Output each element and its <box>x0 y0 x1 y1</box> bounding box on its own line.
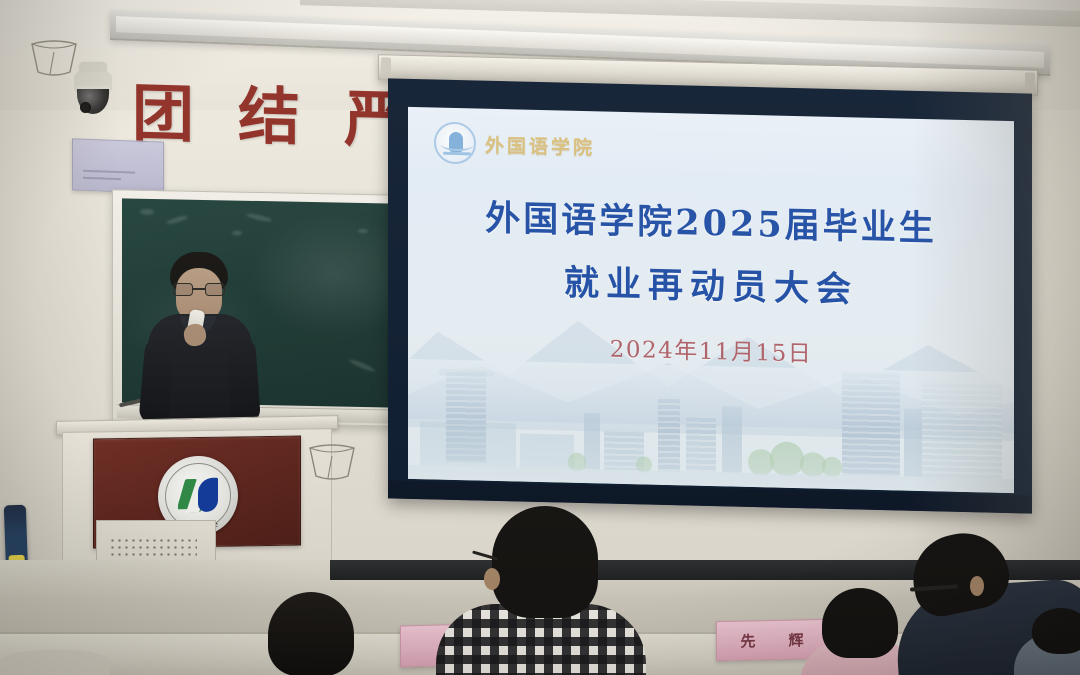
attendee-dark-jacket-ear <box>970 576 984 596</box>
attendee-gray-jacket <box>1014 608 1080 675</box>
attendee-checkered-shirt <box>436 506 646 675</box>
slide-logo-text: 外国语学院 <box>485 130 595 160</box>
emblem-shield <box>178 476 218 515</box>
attendee-front-left <box>0 640 90 675</box>
cup-drawing-icon <box>22 36 86 80</box>
presenter-glasses <box>173 283 225 296</box>
wall-slogan: 团 结 严 <box>132 84 406 150</box>
wall-shading-right <box>910 0 1080 560</box>
slogan-char-2: 结 <box>238 87 300 148</box>
attendee-checkered-head <box>492 506 598 618</box>
slide-logo: 外国语学院 <box>434 121 595 167</box>
cup-drawing-icon-2 <box>300 440 364 484</box>
school-crest-icon <box>434 121 476 164</box>
lecture-hall-photo: 团 结 严 <box>0 0 1080 675</box>
attendee-checkered-ear <box>484 568 500 590</box>
presenter <box>140 252 260 432</box>
presenter-arm-right <box>225 337 261 425</box>
attendee-long-hair <box>244 592 384 675</box>
slogan-char-1: 团 <box>132 84 194 145</box>
